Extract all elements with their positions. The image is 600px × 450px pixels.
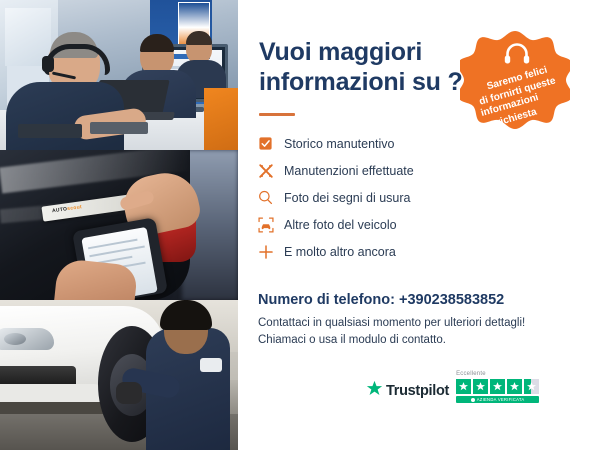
verified-label: AZIENDA VERIFICATA [477,397,525,402]
list-item-label: Manutenzioni effettuate [284,164,414,178]
tools-cross-icon [258,163,284,179]
title-divider [259,113,295,116]
contact-subtitle-line-2: Chiamaci o usa il modulo di contatto. [258,334,446,346]
content-panel: Vuoi maggiori informazioni su ? Saremo f… [238,0,600,450]
contact-subtitle-line-1: Contattaci in qualsiasi momento per ulte… [258,317,525,329]
list-item-label: Foto dei segni di usura [284,191,410,205]
seal-text: Saremo felici di fornirti queste informa… [460,29,570,139]
headline-line-2: informazioni su ? [259,68,479,98]
keyboard [18,124,82,138]
promo-banner: AUTOscout [0,0,600,450]
page-title: Vuoi maggiori informazioni su ? [259,38,479,97]
verified-check-icon [471,398,475,402]
phone-number-line[interactable]: Numero di telefono: +390238583852 [258,292,504,308]
star-filled-3 [490,379,505,394]
list-item-label: Storico manutentivo [284,137,394,151]
star-filled-4 [507,379,522,394]
list-item: Foto dei segni di usura [258,184,488,211]
headlight [0,328,54,350]
list-item: Storico manutentivo [258,130,488,157]
headset-earcup [42,56,54,72]
uniform-patch [200,358,222,372]
list-item: Manutenzioni effettuate [258,157,488,184]
strip-brand-text: AUTOscout [52,204,83,214]
rating-label: Eccellente [456,371,486,377]
list-item-label: Altre foto del veicolo [284,218,397,232]
star-rating [456,379,539,394]
clipboard-check-icon [258,136,284,151]
plus-icon [258,244,284,260]
list-item: Altre foto del veicolo [258,211,488,238]
trustpilot-wordmark: Trustpilot [386,383,449,399]
support-seal-badge: Saremo felici di fornirti queste informa… [460,29,570,139]
orange-signage [204,88,238,150]
star-filled-1 [456,379,471,394]
star-filled-2 [473,379,488,394]
car-frame-icon [258,217,284,233]
trustpilot-rating: Eccellente [456,371,539,403]
trustpilot-logo: Trustpilot [366,371,449,402]
feature-list: Storico manutentivo Manutenzioni effettu… [258,130,488,265]
photo-column: AUTOscout [0,0,238,450]
car-inspection-photo: AUTOscout [0,150,238,300]
tire-inspection-photo [0,300,238,450]
magnifier-icon [258,190,284,205]
list-item-label: E molto altro ancora [284,245,396,259]
list-item: E molto altro ancora [258,238,488,265]
verified-company-badge: AZIENDA VERIFICATA [456,396,539,403]
work-glove [116,382,142,404]
star-partial-5 [524,379,539,394]
headline-line-1: Vuoi maggiori [259,38,479,68]
trustpilot-star-icon [366,380,383,402]
trustpilot-widget[interactable]: Trustpilot Eccellente [366,371,539,403]
call-center-photo [0,0,238,150]
desk-mat [90,122,148,134]
